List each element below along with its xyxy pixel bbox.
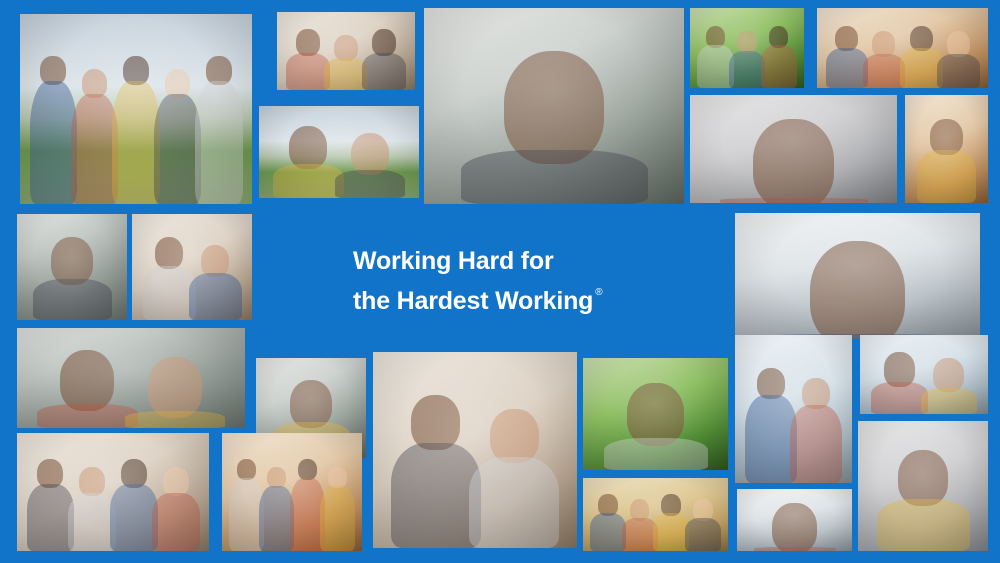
collage-photo-mother-kissing-daughter [373,352,577,548]
photo-vignette [259,106,419,198]
collage-photo-two-industrial-workers-coffee [17,328,245,428]
photo-vignette [17,214,127,320]
headline-line-2: the Hardest Working® [353,277,673,317]
headline-line-2-text: the Hardest Working [353,287,593,315]
photo-vignette [860,335,988,414]
photo-vignette [735,335,852,483]
photo-vignette [817,8,988,88]
collage-photo-soldier-portrait-outdoors [583,358,728,470]
collage-photo-woman-in-mustard-top [737,489,852,551]
photo-vignette [735,213,980,339]
collage-photo-mother-daughter-outdoors [259,106,419,198]
collage-photo-server-in-blue-apron [905,95,988,203]
collage-photo-two-women-and-children-field [583,478,728,551]
collage-photo-woman-arms-raised-celebrating [858,421,988,551]
collage-photo-father-and-child-hug [735,335,852,483]
photo-vignette [690,8,804,88]
photo-vignette [583,358,728,470]
collage-photo-senior-couple-on-sofa [132,214,252,320]
collage-photo-parents-with-two-toddlers [222,433,362,551]
headline-line-1: Working Hard for [353,247,554,275]
photo-vignette [17,433,209,551]
collage-photo-barista-in-apron-portrait [424,8,684,204]
photo-vignette [905,95,988,203]
photo-vignette [373,352,577,548]
photo-vignette [222,433,362,551]
collage-photo-family-of-five-outside-home [20,14,252,204]
collage-photo-family-of-four-on-couch [17,433,209,551]
photo-vignette [277,12,415,90]
photo-vignette [132,214,252,320]
photo-vignette [20,14,252,204]
collage-photo-father-mother-child-tablet [277,12,415,90]
page-headline: Working Hard for the Hardest Working® [353,246,673,317]
photo-vignette [858,421,988,551]
collage-photo-military-family-embrace [690,8,804,88]
collage-photo-teacher-with-students [817,8,988,88]
photo-collage: Working Hard for the Hardest Working® [0,0,1000,563]
collage-photo-warehouse-worker-portrait [17,214,127,320]
collage-photo-office-professional-portrait [735,213,980,339]
collage-photo-nurse-with-toddler [860,335,988,414]
photo-vignette [737,489,852,551]
registered-trademark-icon: ® [595,287,602,298]
photo-vignette [583,478,728,551]
photo-vignette [424,8,684,204]
collage-photo-auto-mechanic-portrait [690,95,897,203]
photo-vignette [17,328,245,428]
photo-vignette [690,95,897,203]
